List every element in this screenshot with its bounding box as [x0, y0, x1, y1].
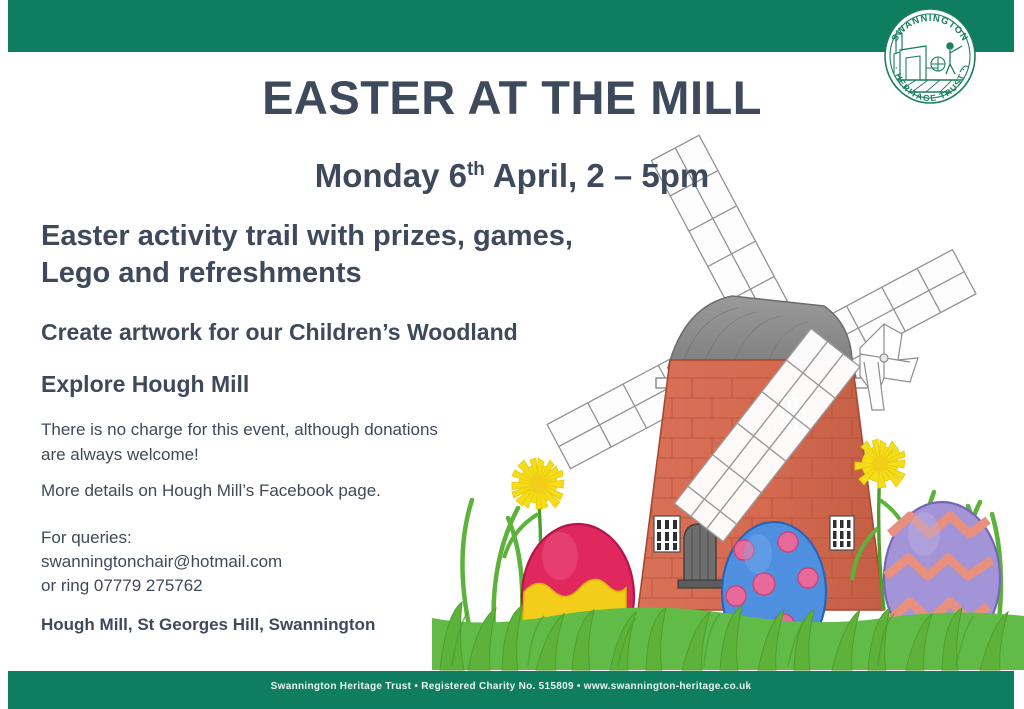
windmill-window [830, 516, 854, 550]
venue-address: Hough Mill, St Georges Hill, Swannington [41, 615, 521, 635]
footer-charity-info: Swannington Heritage Trust • Registered … [8, 681, 1014, 692]
charge-note: There is no charge for this event, altho… [41, 418, 461, 467]
poster-canvas: SWANNINGTON · HERITAGE TRUST · [0, 0, 1024, 709]
windmill-window [654, 516, 680, 552]
explore-headline: Explore Hough Mill [41, 371, 641, 398]
event-datetime: Monday 6th April, 2 – 5pm [0, 157, 1024, 195]
activities-headline: Easter activity trail with prizes, games… [41, 218, 601, 292]
artwork-headline: Create artwork for our Children’s Woodla… [41, 319, 641, 346]
event-date-prefix: Monday 6 [315, 157, 467, 194]
contact-details: For queries: swanningtonchair@hotmail.co… [41, 526, 461, 598]
page-title: EASTER AT THE MILL [0, 70, 1024, 125]
top-brand-bar [8, 0, 1014, 52]
event-time-suffix: April, 2 – 5pm [485, 157, 709, 194]
ordinal-suffix: th [467, 159, 485, 180]
facebook-note: More details on Hough Mill’s Facebook pa… [41, 481, 501, 501]
